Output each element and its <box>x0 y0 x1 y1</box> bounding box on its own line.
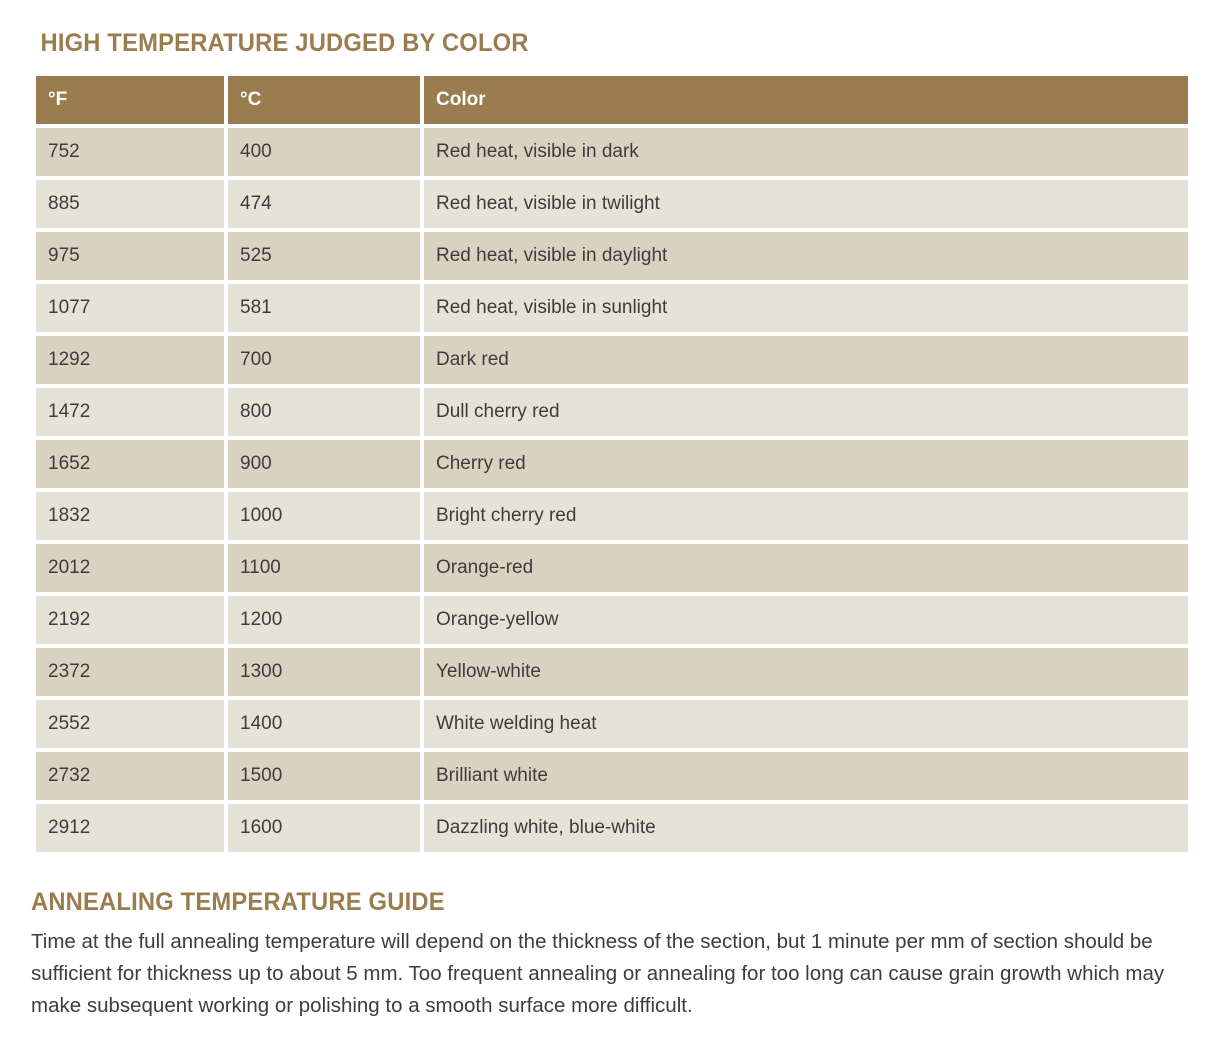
cell-celsius: 581 <box>228 284 420 332</box>
cell-color: Dull cherry red <box>424 388 1188 436</box>
table-row: 1292 700 Dark red <box>36 336 1188 384</box>
cell-celsius: 1100 <box>228 544 420 592</box>
cell-fahrenheit: 1077 <box>36 284 224 332</box>
cell-fahrenheit: 2552 <box>36 700 224 748</box>
cell-fahrenheit: 1832 <box>36 492 224 540</box>
cell-fahrenheit: 975 <box>36 232 224 280</box>
page-root: HIGH TEMPERATURE JUDGED BY COLOR °F °C C… <box>0 0 1220 1064</box>
cell-fahrenheit: 2912 <box>36 804 224 852</box>
cell-celsius: 1400 <box>228 700 420 748</box>
cell-color: Yellow-white <box>424 648 1188 696</box>
cell-color: Red heat, visible in sunlight <box>424 284 1188 332</box>
cell-celsius: 900 <box>228 440 420 488</box>
cell-celsius: 400 <box>228 128 420 176</box>
table-row: 2192 1200 Orange-yellow <box>36 596 1188 644</box>
table-row: 2732 1500 Brilliant white <box>36 752 1188 800</box>
table-header: °F °C Color <box>36 76 1188 124</box>
cell-color: Cherry red <box>424 440 1188 488</box>
table-row: 2012 1100 Orange-red <box>36 544 1188 592</box>
cell-color: Dark red <box>424 336 1188 384</box>
table-row: 1652 900 Cherry red <box>36 440 1188 488</box>
table-row: 1077 581 Red heat, visible in sunlight <box>36 284 1188 332</box>
cell-fahrenheit: 2372 <box>36 648 224 696</box>
cell-fahrenheit: 1472 <box>36 388 224 436</box>
page-title: HIGH TEMPERATURE JUDGED BY COLOR <box>31 0 1130 60</box>
table-row: 2372 1300 Yellow-white <box>36 648 1188 696</box>
cell-color: Red heat, visible in daylight <box>424 232 1188 280</box>
table-row: 1472 800 Dull cherry red <box>36 388 1188 436</box>
table-header-row: °F °C Color <box>36 76 1188 124</box>
cell-celsius: 1000 <box>228 492 420 540</box>
column-header-color: Color <box>424 76 1188 124</box>
annealing-guide-paragraph: Time at the full annealing temperature w… <box>31 918 1189 1022</box>
cell-celsius: 700 <box>228 336 420 384</box>
cell-celsius: 1600 <box>228 804 420 852</box>
cell-fahrenheit: 1652 <box>36 440 224 488</box>
table-body: 752 400 Red heat, visible in dark 885 47… <box>36 128 1188 852</box>
table-row: 1832 1000 Bright cherry red <box>36 492 1188 540</box>
cell-celsius: 1300 <box>228 648 420 696</box>
cell-celsius: 800 <box>228 388 420 436</box>
cell-celsius: 1200 <box>228 596 420 644</box>
cell-fahrenheit: 2732 <box>36 752 224 800</box>
cell-color: Orange-yellow <box>424 596 1188 644</box>
cell-fahrenheit: 2012 <box>36 544 224 592</box>
cell-color: Red heat, visible in twilight <box>424 180 1188 228</box>
cell-color: Dazzling white, blue-white <box>424 804 1188 852</box>
annealing-guide-title: ANNEALING TEMPERATURE GUIDE <box>31 856 1130 918</box>
temperature-color-table: °F °C Color 752 400 Red heat, visible in… <box>32 72 1192 856</box>
cell-color: Red heat, visible in dark <box>424 128 1188 176</box>
cell-color: Orange-red <box>424 544 1188 592</box>
cell-celsius: 474 <box>228 180 420 228</box>
column-header-celsius: °C <box>228 76 420 124</box>
column-header-fahrenheit: °F <box>36 76 224 124</box>
cell-celsius: 1500 <box>228 752 420 800</box>
table-row: 2912 1600 Dazzling white, blue-white <box>36 804 1188 852</box>
cell-fahrenheit: 1292 <box>36 336 224 384</box>
table-row: 885 474 Red heat, visible in twilight <box>36 180 1188 228</box>
cell-fahrenheit: 885 <box>36 180 224 228</box>
table-row: 975 525 Red heat, visible in daylight <box>36 232 1188 280</box>
cell-fahrenheit: 752 <box>36 128 224 176</box>
cell-color: Brilliant white <box>424 752 1188 800</box>
cell-color: Bright cherry red <box>424 492 1188 540</box>
cell-fahrenheit: 2192 <box>36 596 224 644</box>
cell-color: White welding heat <box>424 700 1188 748</box>
table-row: 752 400 Red heat, visible in dark <box>36 128 1188 176</box>
cell-celsius: 525 <box>228 232 420 280</box>
table-row: 2552 1400 White welding heat <box>36 700 1188 748</box>
